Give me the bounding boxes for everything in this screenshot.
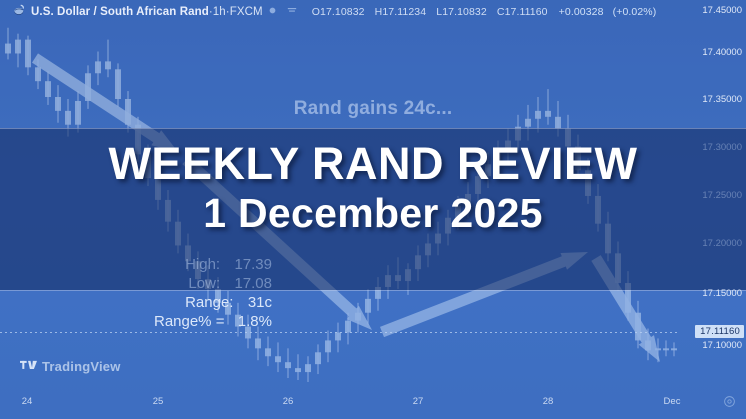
price-tick-1: 17.40000 bbox=[702, 47, 742, 58]
title-overlay: WEEKLY RAND REVIEW 1 December 2025 bbox=[0, 139, 746, 237]
chart-header: U.S. Dollar / South African Rand · 1h · … bbox=[0, 0, 746, 24]
current-price-badge: 17.11160 bbox=[695, 325, 744, 338]
tradingview-watermark: TradingView bbox=[20, 359, 121, 374]
ohlc-open-value: 17.10832 bbox=[320, 6, 365, 18]
band-divider-top bbox=[0, 128, 746, 129]
ohlc-close-value: 17.11160 bbox=[505, 6, 548, 18]
price-tick-5: 17.20000 bbox=[702, 238, 742, 249]
ohlc-close-label: C bbox=[497, 6, 505, 18]
stat-range-row: Range: 31c bbox=[0, 293, 290, 312]
stat-high-value: 17.39 bbox=[234, 256, 272, 273]
ohlc-low-value: 17.10832 bbox=[442, 6, 487, 18]
stat-range-label: Range: bbox=[185, 294, 233, 311]
globe-currency-icon bbox=[13, 4, 26, 20]
axis-settings-icon[interactable] bbox=[723, 395, 736, 413]
tradingview-logo-icon bbox=[20, 359, 37, 374]
ohlc-readout: O17.10832 H17.11234 L17.10832 C17.11160 … bbox=[312, 6, 657, 18]
page-title-line2: 1 December 2025 bbox=[0, 189, 746, 237]
time-tick-4: 28 bbox=[543, 396, 554, 407]
symbol-name[interactable]: U.S. Dollar / South African Rand bbox=[31, 6, 209, 18]
stat-low-value: 17.08 bbox=[234, 275, 272, 292]
stat-low-label: Low: bbox=[188, 275, 220, 292]
ohlc-high-value: 17.11234 bbox=[382, 6, 426, 18]
exchange-label[interactable]: FXCM bbox=[230, 6, 263, 18]
price-tick-7: 17.10000 bbox=[702, 340, 742, 351]
ohlc-change-percent: (+0.02%) bbox=[613, 6, 657, 18]
news-headline-text: Rand gains 24c... bbox=[0, 98, 746, 120]
stat-low-row: Low: 17.08 bbox=[0, 274, 290, 293]
ohlc-open-label: O bbox=[312, 6, 320, 18]
stat-range-pct-label: Range% = bbox=[154, 313, 224, 330]
tradingview-label: TradingView bbox=[42, 359, 121, 374]
interval-label[interactable]: 1h bbox=[213, 6, 226, 18]
stats-block: High: 17.39 Low: 17.08 Range: 31c Range%… bbox=[0, 255, 290, 331]
time-tick-3: 27 bbox=[413, 396, 424, 407]
chart-screenshot: U.S. Dollar / South African Rand · 1h · … bbox=[0, 0, 746, 419]
time-tick-2: 26 bbox=[283, 396, 294, 407]
page-title-line1: WEEKLY RAND REVIEW bbox=[0, 139, 746, 189]
stat-range-pct-value: 1.8% bbox=[238, 313, 272, 330]
stat-high-label: High: bbox=[185, 256, 220, 273]
settings-lines-icon[interactable] bbox=[287, 6, 297, 18]
price-tick-6: 17.15000 bbox=[702, 288, 742, 299]
time-axis[interactable]: 2425262728Dec bbox=[0, 387, 746, 419]
time-tick-1: 25 bbox=[153, 396, 164, 407]
stat-range-value: 31c bbox=[248, 294, 272, 311]
stat-range-pct-row: Range% = 1.8% bbox=[0, 312, 290, 331]
ohlc-change: +0.00328 bbox=[559, 6, 604, 18]
price-tick-2: 17.35000 bbox=[702, 94, 742, 105]
time-tick-5: Dec bbox=[664, 396, 681, 407]
indicator-dot-icon[interactable] bbox=[268, 6, 277, 18]
stat-high-row: High: 17.39 bbox=[0, 255, 290, 274]
time-tick-0: 24 bbox=[22, 396, 33, 407]
